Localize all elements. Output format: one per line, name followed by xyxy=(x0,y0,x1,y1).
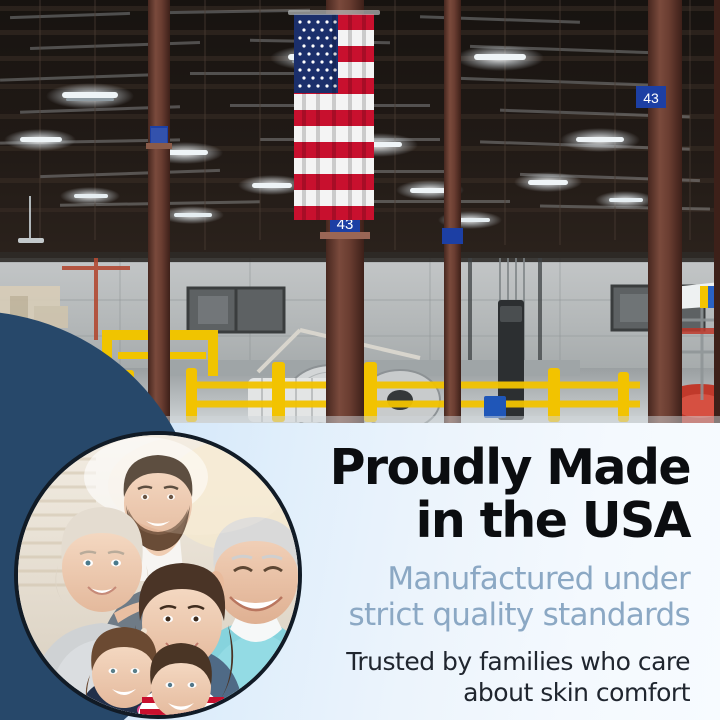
family-portrait-illustration xyxy=(18,435,298,715)
banner-copy: Proudly Made in the USA Manufactured und… xyxy=(290,441,690,708)
promo-banner: 43 43 xyxy=(0,0,720,720)
tagline: Trusted by families who care about skin … xyxy=(290,646,690,708)
page-title: Proudly Made in the USA xyxy=(290,441,690,547)
happy-family-portrait xyxy=(14,431,302,719)
column-sign-text-2: 43 xyxy=(643,90,659,106)
subheadline: Manufactured under strict quality standa… xyxy=(290,561,690,633)
american-flag xyxy=(288,10,380,220)
